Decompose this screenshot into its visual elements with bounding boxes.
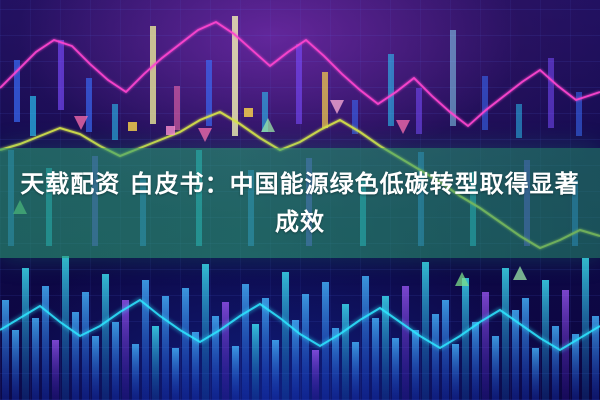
triangle-down-marker bbox=[74, 100, 410, 142]
candlestick-markers-upper bbox=[14, 16, 582, 140]
headline-banner: 天载配资 白皮书：中国能源绿色低碳转型取得显著成效 bbox=[0, 148, 600, 258]
headline-text: 天载配资 白皮书：中国能源绿色低碳转型取得显著成效 bbox=[0, 165, 600, 241]
volume-bars-lower bbox=[2, 256, 599, 400]
cyan-trend-line bbox=[0, 300, 600, 350]
screenshot-stage: 天载配资 白皮书：中国能源绿色低碳转型取得显著成效 bbox=[0, 0, 600, 400]
